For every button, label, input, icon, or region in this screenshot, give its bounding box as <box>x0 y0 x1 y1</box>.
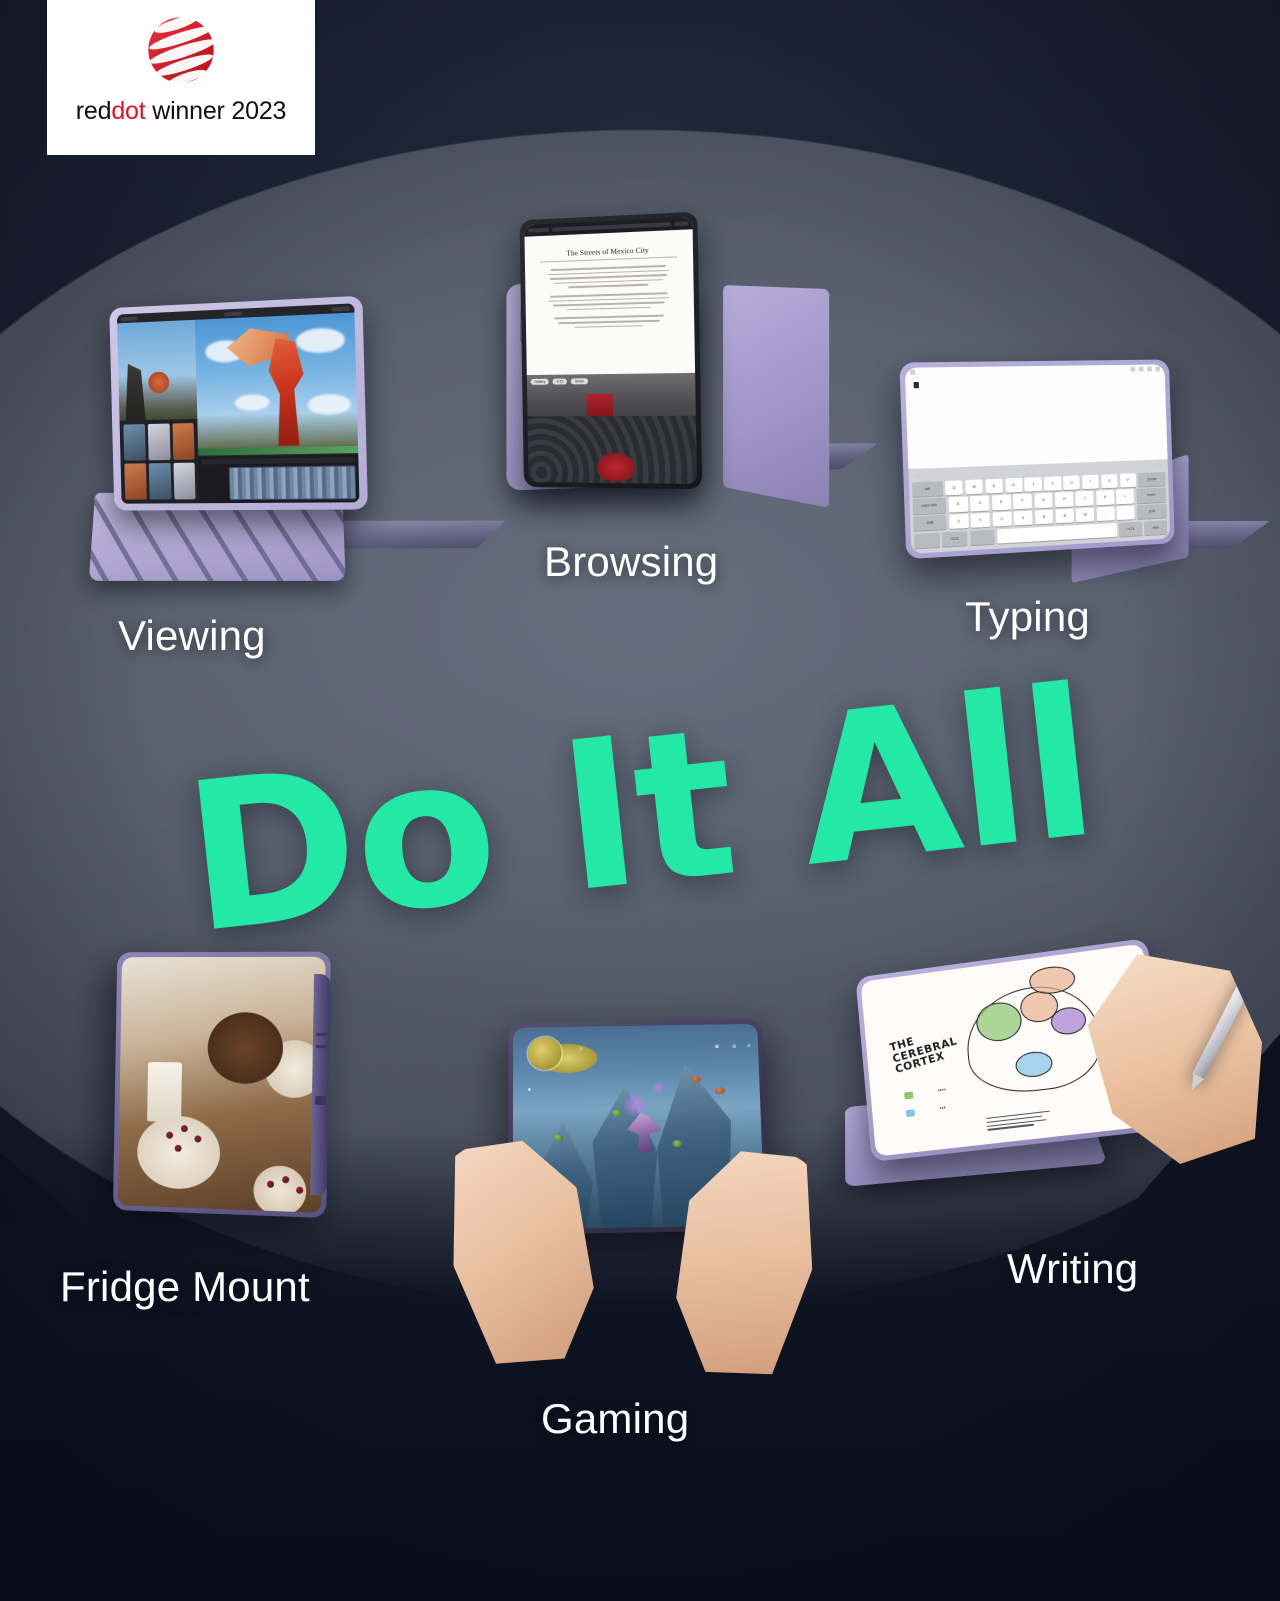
berry-shape <box>167 1132 174 1139</box>
keyboard-layout-icon[interactable] <box>1150 464 1155 469</box>
magic-glow <box>651 1080 665 1094</box>
key-comma[interactable]: , <box>1097 507 1115 522</box>
video-editor-sidebar <box>117 320 200 504</box>
key-b[interactable]: B <box>1035 510 1054 525</box>
usb-port <box>315 1096 326 1105</box>
hud-menu-icon[interactable]: ▦ <box>715 1044 719 1049</box>
timeline-clip <box>229 465 357 500</box>
photo-chip[interactable]: Share <box>571 379 588 385</box>
scene-label-gaming: Gaming <box>541 1395 689 1443</box>
scene-label-writing: Writing <box>1007 1245 1138 1293</box>
text-line <box>569 284 648 288</box>
scene-fridge-mount <box>112 952 344 1220</box>
media-thumbnail <box>124 463 146 499</box>
berry-shape <box>174 1145 181 1152</box>
photo-overlay-chips: Gallery 4:15 Share <box>531 379 588 386</box>
cloud-shape <box>234 394 269 411</box>
key-s[interactable]: S <box>970 496 990 511</box>
key-o[interactable]: O <box>1101 474 1118 489</box>
key-k[interactable]: K <box>1096 490 1114 505</box>
key-numbers[interactable]: ?123 <box>942 531 968 547</box>
hud-party-icon[interactable]: ▤ <box>732 1044 736 1049</box>
hud-settings-icon[interactable]: ⚙ <box>747 1043 751 1048</box>
key-t[interactable]: T <box>1024 477 1041 492</box>
notes-text-area[interactable] <box>905 374 1168 470</box>
key-g[interactable]: G <box>1034 493 1053 508</box>
article-paragraph <box>541 315 678 329</box>
key-q[interactable]: Q <box>945 480 963 495</box>
toolbar-chip <box>332 306 351 311</box>
tablet-device-fridge <box>113 952 331 1218</box>
video-editor-app <box>117 303 360 503</box>
key-z[interactable]: Z <box>949 514 969 529</box>
key-shift-right[interactable]: shift <box>1137 504 1167 519</box>
foliage-shape <box>553 1134 563 1141</box>
foliage-shape <box>612 1109 622 1116</box>
key-a[interactable]: A <box>948 497 968 512</box>
dessert-photo <box>118 957 326 1213</box>
text-line <box>553 302 665 307</box>
key-d[interactable]: D <box>992 495 1011 510</box>
scene-writing: THE CEREBRAL CORTEX ●●●● ●●● <box>838 948 1256 1202</box>
poster-stage: reddot winner 2023 <box>0 0 1280 1601</box>
key-r[interactable]: R <box>1005 477 1023 492</box>
text-cursor <box>914 382 919 388</box>
foliage-shape <box>690 1076 700 1083</box>
video-editor-body <box>117 313 359 504</box>
key-shift-left[interactable]: shift <box>913 515 947 531</box>
key-u[interactable]: U <box>1063 475 1080 490</box>
key-h[interactable]: H <box>1055 492 1074 507</box>
video-viewer <box>195 313 358 456</box>
key-numbers-right[interactable]: ?123 <box>1119 521 1142 536</box>
cloud-shape <box>308 394 351 415</box>
key-delete[interactable]: delete <box>1138 472 1166 487</box>
text-line <box>575 325 643 328</box>
scene-viewing <box>88 296 418 586</box>
key-hide-keyboard[interactable]: hide <box>1144 520 1167 535</box>
browser-tab[interactable] <box>528 228 549 233</box>
scene-label-browsing: Browsing <box>544 538 718 586</box>
key-l[interactable]: L <box>1116 489 1134 504</box>
text-line <box>554 315 664 319</box>
key-i[interactable]: I <box>1082 474 1099 489</box>
scene-typing: tab Q W E R T Y U I O P delete <box>898 355 1250 570</box>
key-f[interactable]: F <box>1013 494 1032 509</box>
key-e[interactable]: E <box>985 478 1003 493</box>
case-folio-flap <box>723 285 829 508</box>
key-n[interactable]: N <box>1055 509 1074 524</box>
key-v[interactable]: V <box>1014 511 1033 526</box>
video-editor-main <box>195 313 359 504</box>
tablet-screen-browsing: The Streets of Mexico City <box>524 217 697 484</box>
sketch-title: THE CEREBRAL CORTEX <box>889 1024 962 1076</box>
undo-icon[interactable] <box>915 473 920 478</box>
berry-shape <box>195 1135 202 1142</box>
key-j[interactable]: J <box>1076 491 1095 506</box>
key-period[interactable]: . <box>1117 506 1135 521</box>
article-paragraph <box>540 264 677 289</box>
reddot-badge-text: reddot winner 2023 <box>76 97 286 126</box>
key-w[interactable]: W <box>965 479 983 494</box>
tablet-side-buttons <box>310 974 330 1196</box>
legend-label: ●●●● <box>937 1087 946 1092</box>
legend-chip-blue <box>906 1109 915 1117</box>
berry-shape <box>181 1125 188 1132</box>
legend-label: ●●● <box>939 1105 946 1110</box>
media-thumbnail <box>123 424 145 461</box>
scene-browsing: The Streets of Mexico City <box>498 212 850 512</box>
toolbar-chip <box>121 316 138 321</box>
sketch-notes-lines <box>986 1110 1057 1133</box>
key-m[interactable]: M <box>1076 508 1095 523</box>
photo-chip[interactable]: Gallery <box>531 379 549 385</box>
reddot-sphere-logo <box>143 12 219 88</box>
media-thumbnail <box>149 463 172 500</box>
cloud-shape <box>296 327 345 354</box>
media-browser <box>120 419 200 504</box>
key-tab[interactable]: tab <box>912 481 943 497</box>
timeline-ruler <box>202 457 356 464</box>
markup-icon[interactable] <box>1139 367 1144 372</box>
berry-shape <box>267 1180 274 1187</box>
media-thumbnail <box>148 423 171 460</box>
foliage-shape <box>715 1087 725 1094</box>
browser-action[interactable] <box>674 221 688 226</box>
reddot-award-badge: reddot winner 2023 <box>47 0 315 155</box>
key-c[interactable]: C <box>992 512 1011 527</box>
article-photo: Gallery 4:15 Share <box>527 373 697 484</box>
tablet-screen-typing: tab Q W E R T Y U I O P delete <box>905 364 1170 553</box>
compose-icon[interactable] <box>1147 367 1152 372</box>
web-browser-app: The Streets of Mexico City <box>524 217 697 484</box>
scene-gaming: ◆ ◎ ▦ ▤ ⚙ ◉ ◯ <box>452 1018 812 1398</box>
crowd-red-accent <box>597 453 635 482</box>
tablet-device-viewing <box>109 296 368 511</box>
article-paragraph <box>541 292 678 311</box>
share-icon[interactable] <box>1130 367 1135 372</box>
key-emoji[interactable] <box>970 529 995 545</box>
tablet-screen-viewing <box>117 303 360 503</box>
article-title: The Streets of Mexico City <box>540 244 677 262</box>
berry-shape <box>296 1186 303 1193</box>
key-return[interactable]: return <box>1136 488 1166 503</box>
legend-chip-green <box>904 1091 913 1099</box>
hud-compass-icon: ◎ <box>579 1046 583 1051</box>
candle-shape <box>147 1062 182 1123</box>
media-thumbnail <box>172 423 195 460</box>
photo-chip[interactable]: 4:15 <box>553 379 567 385</box>
reddot-text-red: red <box>76 97 112 125</box>
key-p[interactable]: P <box>1120 473 1137 488</box>
back-icon[interactable] <box>910 370 915 375</box>
text-line <box>558 320 659 324</box>
scene-label-fridge-mount: Fridge Mount <box>60 1263 310 1311</box>
volume-button[interactable] <box>316 1045 327 1048</box>
video-timeline <box>199 453 360 503</box>
key-caps-lock[interactable]: caps lock <box>913 498 947 514</box>
scene-label-viewing: Viewing <box>118 612 266 660</box>
onscreen-keyboard[interactable]: tab Q W E R T Y U I O P delete <box>908 459 1170 553</box>
globe-icon[interactable] <box>1158 463 1163 468</box>
article-body: The Streets of Mexico City <box>524 229 695 375</box>
key-globe[interactable] <box>914 532 940 548</box>
media-thumbnail <box>173 463 196 500</box>
hud-quest-icon[interactable]: ◆ <box>528 1087 531 1092</box>
text-line <box>566 307 651 311</box>
game-minimap[interactable] <box>528 1037 562 1070</box>
key-x[interactable]: X <box>971 513 991 528</box>
brain-inset-sketch <box>1028 964 1077 997</box>
tablet-device-typing: tab Q W E R T Y U I O P delete <box>899 359 1175 559</box>
volume-button[interactable] <box>316 1033 327 1036</box>
tablet-device-browsing: The Streets of Mexico City <box>520 212 703 489</box>
scene-label-typing: Typing <box>965 593 1090 641</box>
more-icon[interactable] <box>1155 367 1160 372</box>
reddot-text-dot: dot <box>111 97 145 125</box>
reddot-text-winner-year: winner 2023 <box>145 97 286 125</box>
toolbar-chip <box>224 311 242 316</box>
text-line <box>550 292 668 297</box>
key-space[interactable] <box>997 523 1117 544</box>
street-banner <box>586 394 613 418</box>
berry-shape <box>282 1176 289 1183</box>
notes-app: tab Q W E R T Y U I O P delete <box>905 364 1170 553</box>
inspector-preview <box>117 320 198 421</box>
key-y[interactable]: Y <box>1044 476 1061 491</box>
tablet-screen-fridge <box>118 957 326 1213</box>
